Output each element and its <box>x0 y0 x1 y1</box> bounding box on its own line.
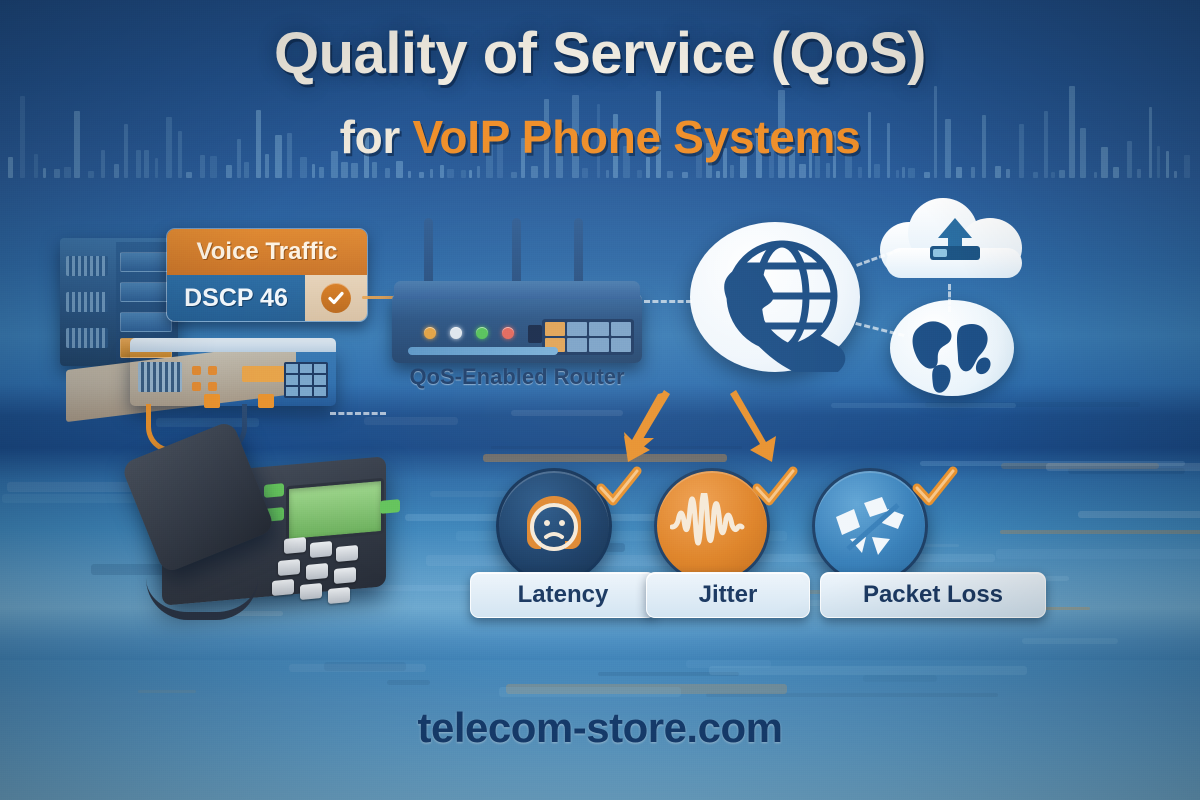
dscp-value: DSCP 46 <box>167 275 305 321</box>
page-title: Quality of Service (QoS) <box>0 20 1200 87</box>
switch-ports <box>284 362 328 398</box>
dscp-row: DSCP 46 <box>167 275 367 321</box>
phone-lcd-screen <box>286 478 384 543</box>
switch-led <box>208 366 217 375</box>
check-icon <box>596 466 642 510</box>
server-vent <box>66 256 108 276</box>
metric-label-latency[interactable]: Latency <box>470 572 656 618</box>
check-icon <box>912 466 958 510</box>
cable-connector <box>258 394 274 408</box>
router-led-white <box>450 327 462 339</box>
phone-line-key <box>264 483 284 498</box>
page-subtitle: for VoIP Phone Systems <box>0 110 1200 164</box>
metric-icon-latency[interactable] <box>496 468 612 584</box>
switch-led <box>192 366 201 375</box>
phone-cord <box>146 578 258 620</box>
router-led-amber <box>424 327 436 339</box>
qos-router-icon <box>392 218 642 363</box>
subtitle-highlight: VoIP Phone Systems <box>412 111 860 163</box>
check-icon <box>321 283 351 313</box>
router-top-shell <box>394 281 640 299</box>
switch-top <box>130 338 336 352</box>
footer-site[interactable]: telecom-store.com <box>0 704 1200 752</box>
switch-vent <box>138 362 182 392</box>
dscp-check-cell <box>305 275 367 321</box>
earth-globe-icon <box>890 300 1014 396</box>
switch-led <box>208 382 217 391</box>
server-vent <box>66 292 108 312</box>
infographic-canvas: Quality of Service (QoS) for VoIP Phone … <box>0 0 1200 800</box>
network-switch-icon <box>130 348 336 406</box>
connector-dashed <box>948 284 951 312</box>
check-icon <box>752 466 798 510</box>
metric-label-packet-loss[interactable]: Packet Loss <box>820 572 1046 618</box>
connector-dashed <box>644 300 692 303</box>
server-vent <box>66 328 108 348</box>
router-led-green <box>476 327 488 339</box>
metric-icon-packet-loss[interactable] <box>812 468 928 584</box>
router-label: QoS-Enabled Router <box>372 364 662 390</box>
desk-phone-icon <box>118 428 386 618</box>
cloud-upload-icon <box>880 196 1030 280</box>
voice-traffic-title: Voice Traffic <box>167 229 367 275</box>
metric-label-jitter[interactable]: Jitter <box>646 572 810 618</box>
server-bay <box>120 252 172 272</box>
server-bay <box>120 312 172 332</box>
router-status-bar <box>408 347 558 355</box>
down-arrow-icon <box>722 388 782 468</box>
down-arrow-icon <box>620 388 680 468</box>
server-bay <box>120 282 172 302</box>
connector-dashed <box>330 412 386 415</box>
switch-led <box>192 382 201 391</box>
phone-line-key <box>380 499 400 514</box>
router-slot <box>528 325 542 343</box>
router-body <box>392 293 642 363</box>
router-led-red <box>502 327 514 339</box>
voice-traffic-badge[interactable]: Voice Traffic DSCP 46 <box>166 228 368 322</box>
globe-phone-icon <box>690 222 860 372</box>
subtitle-prefix: for <box>340 111 413 163</box>
